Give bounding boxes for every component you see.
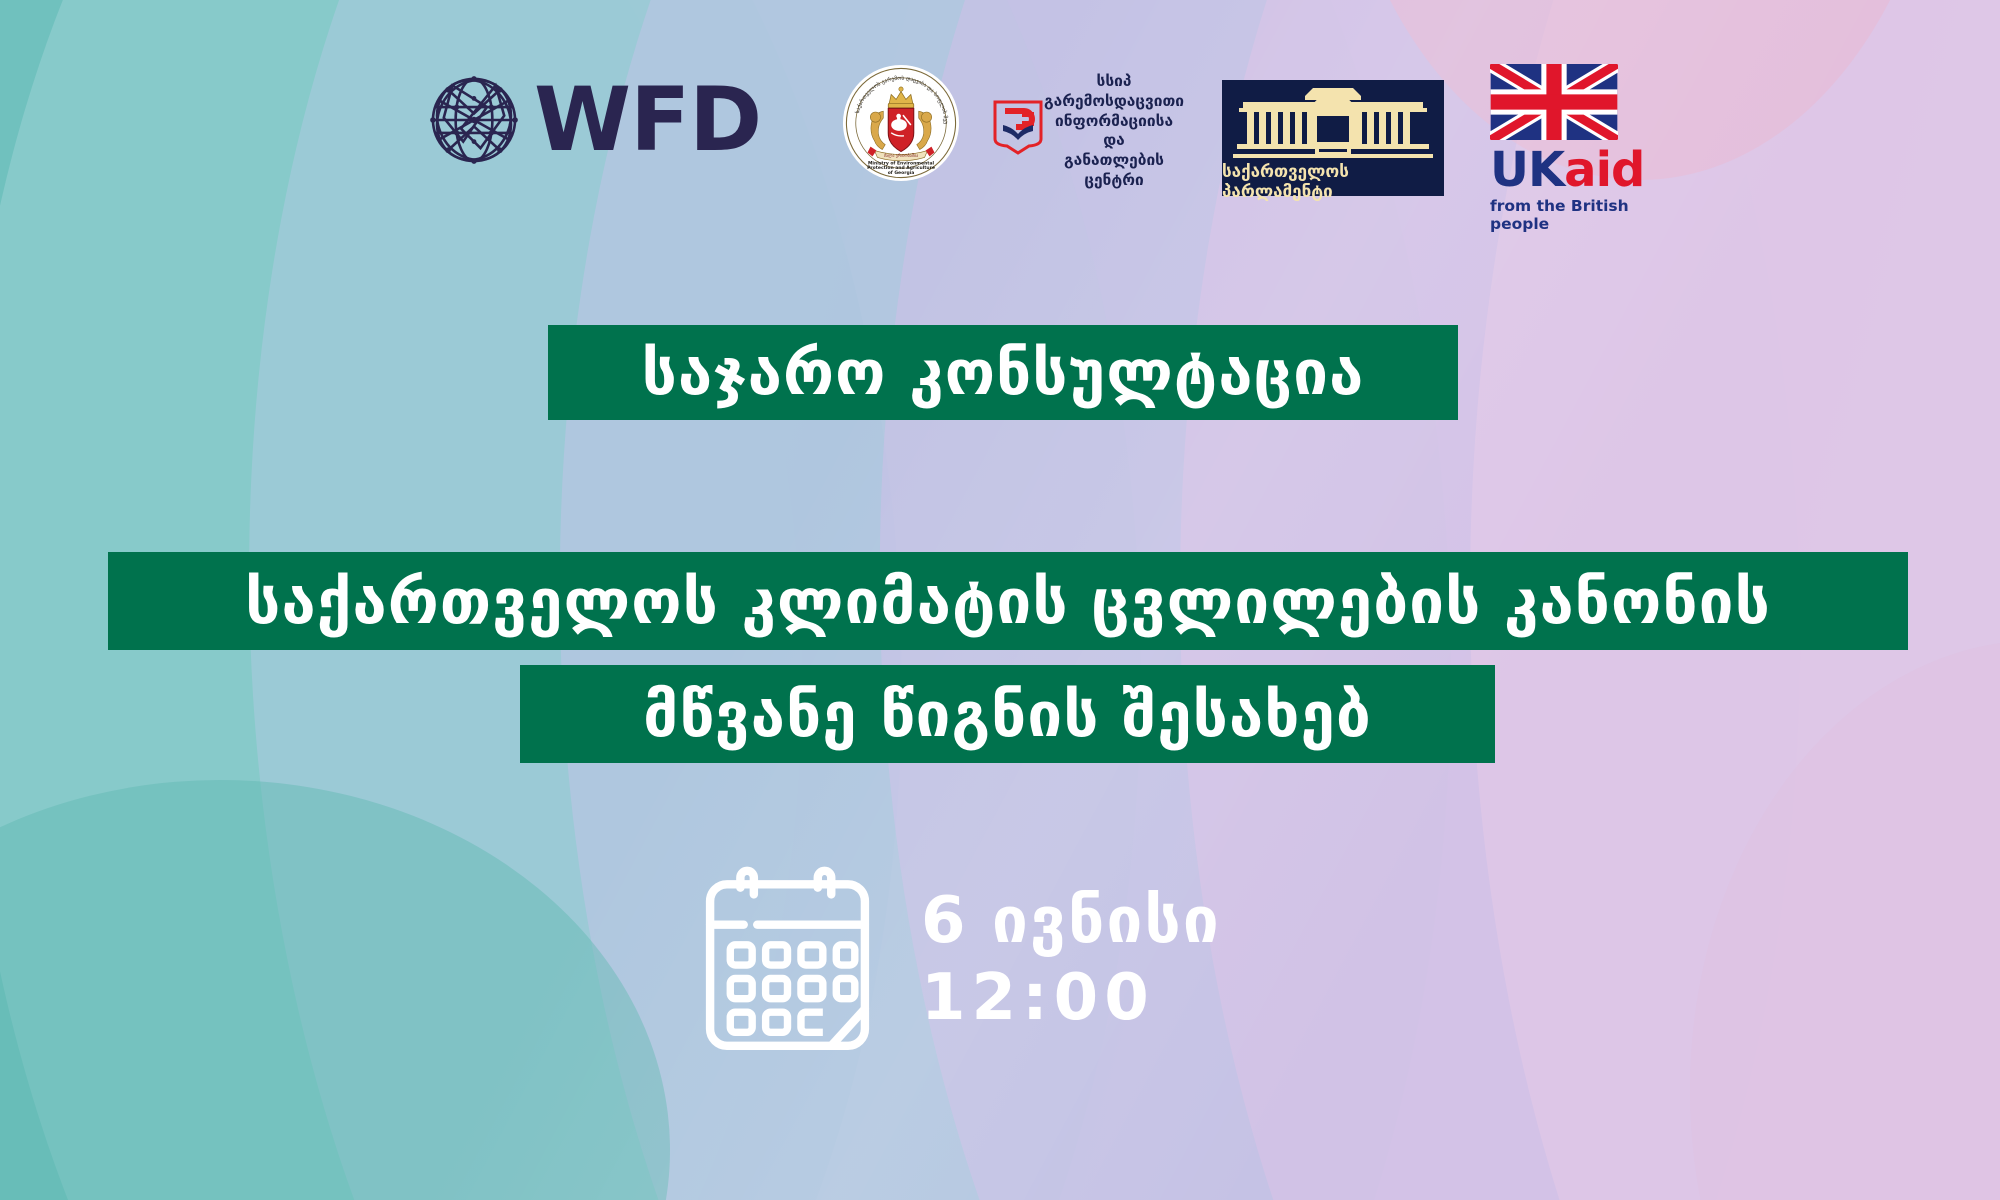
wfd-wordmark: WFD <box>534 76 761 164</box>
logo-ukaid: UKaid from the British people <box>1490 64 1640 233</box>
headline-banner-public-consultation: საჯარო კონსულტაცია <box>548 325 1458 420</box>
parliament-caption: საქართველოს პარლამენტი <box>1222 162 1444 202</box>
logo-strip: WFD საქართველოს გარემოს დაცვისა და სოფლი… <box>0 28 2000 188</box>
env-centre-line-1: სსიპ გარემოსდაცვითი <box>1044 72 1184 112</box>
ukaid-wordmark: UKaid <box>1490 146 1640 194</box>
logo-parliament-of-georgia: საქართველოს პარლამენტი <box>1222 80 1444 196</box>
parliament-building-icon <box>1233 86 1433 160</box>
title-banner-line-1: საქართველოს კლიმატის ცვლილების კანონის <box>108 552 1908 650</box>
svg-text:ძალა ერთობაშია: ძალა ერთობაშია <box>884 153 919 158</box>
env-centre-line-3: განათლების ცენტრი <box>1044 151 1184 191</box>
event-date: 6 ივნისი <box>921 887 1221 956</box>
logo-environmental-information-centre: სსიპ გარემოსდაცვითი ინფორმაციისა და განა… <box>992 72 1178 191</box>
svg-text:of Georgia: of Georgia <box>888 170 915 176</box>
title-banner-line-2: მწვანე წიგნის შესახებ <box>520 665 1495 763</box>
ukaid-aid-text: aid <box>1564 142 1644 198</box>
union-jack-flag-icon <box>1490 64 1618 140</box>
ukaid-tagline: from the British people <box>1490 197 1640 233</box>
event-datetime-text: 6 ივნისი 12:00 <box>921 887 1221 1033</box>
env-centre-line-2: ინფორმაციისა და <box>1044 112 1184 152</box>
calendar-icon <box>700 860 875 1060</box>
georgia-coat-of-arms-seal-icon: საქართველოს გარემოს დაცვისა და სოფლის მე… <box>842 64 960 186</box>
logo-ministry-of-environment: საქართველოს გარემოს დაცვისა და სოფლის მე… <box>842 66 960 184</box>
logo-wfd: WFD <box>420 66 761 174</box>
env-centre-caption: სსიპ გარემოსდაცვითი ინფორმაციისა და განა… <box>1044 72 1184 191</box>
globe-mesh-icon <box>420 66 528 174</box>
poster-canvas: WFD საქართველოს გარემოს დაცვისა და სოფლი… <box>0 0 2000 1200</box>
ukaid-uk-text: UK <box>1490 142 1564 198</box>
event-time: 12:00 <box>921 964 1221 1033</box>
shield-book-icon <box>992 99 1044 157</box>
event-datetime-block: 6 ივნისი 12:00 <box>700 860 1221 1060</box>
